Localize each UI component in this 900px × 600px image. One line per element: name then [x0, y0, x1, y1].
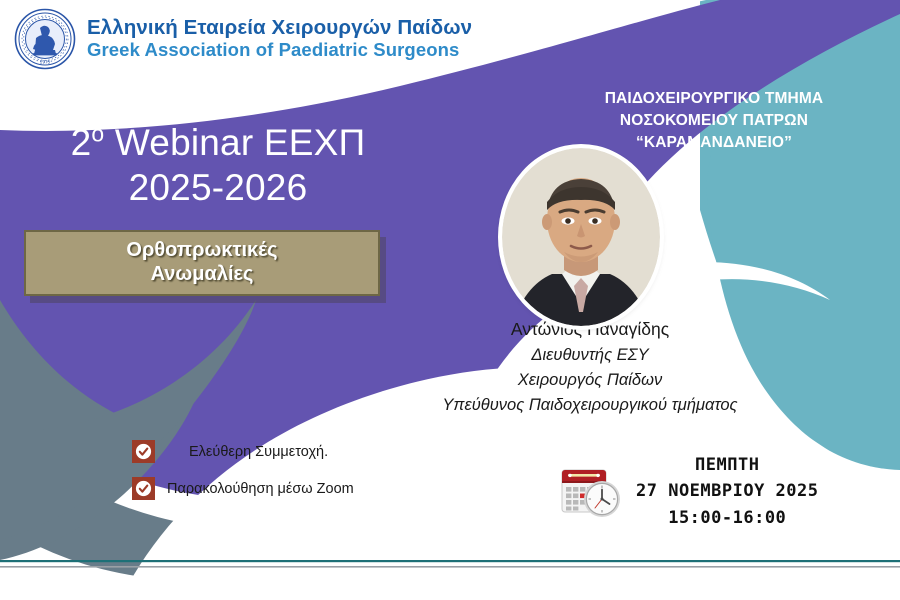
department-line1: ΠΑΙΔΟΧΕΙΡΟΥΡΓΙΚΟ ΤΜΗΜΑ — [554, 88, 874, 110]
header-text: Ελληνική Εταιρεία Χειρουργών Παίδων Gree… — [87, 17, 472, 61]
event-time: 15:00-16:00 — [636, 505, 819, 531]
association-seal-icon: 1975 — [14, 8, 76, 70]
topic-text: Ορθοπρωκτικές Ανωμαλίες — [126, 239, 277, 286]
speaker-portrait — [502, 148, 660, 326]
checklist-item: Παρακολούθηση μέσω Zoom — [132, 477, 354, 500]
event-day: ΠΕΜΠΤΗ — [636, 452, 819, 478]
bottom-rule-teal — [0, 560, 900, 562]
speaker-role-3: Υπεύθυνος Παιδοχειρουργικού τμήματος — [400, 393, 780, 418]
topic-line1: Ορθοπρωκτικές — [126, 239, 277, 263]
ordinal-suffix: ο — [91, 121, 104, 147]
info-checklist: Ελεύθερη Συμμετοχή. Παρακολούθηση μέσω Z… — [132, 440, 354, 514]
checklist-label: Παρακολούθηση μέσω Zoom — [167, 481, 354, 497]
bottom-rule-gray — [0, 566, 900, 568]
event-date: 27 ΝΟΕΜΒΡΙΟΥ 2025 — [636, 478, 819, 504]
department-line2: ΝΟΣΟΚΟΜΕΙΟΥ ΠΑΤΡΩΝ — [554, 110, 874, 132]
header: 1975 Ελληνική Εταιρεία Χειρουργών Παίδων… — [14, 8, 472, 70]
title-block: 2ο Webinar ΕΕΧΠ 2025-2026 — [22, 122, 414, 210]
webinar-number: 2 — [71, 122, 92, 163]
datetime-block: ΠΕΜΠΤΗ 27 ΝΟΕΜΒΡΙΟΥ 2025 15:00-16:00 — [560, 452, 819, 531]
department-block: ΠΑΙΔΟΧΕΙΡΟΥΡΓΙΚΟ ΤΜΗΜΑ ΝΟΣΟΚΟΜΕΙΟΥ ΠΑΤΡΩ… — [554, 88, 874, 154]
checkbox-checked-icon — [132, 440, 155, 463]
speaker-info: Αντώνιος Παναγίδης Διευθυντής ΕΣΥ Χειρου… — [400, 316, 780, 418]
webinar-season: 2025-2026 — [22, 165, 414, 210]
webinar-title-rest: Webinar ΕΕΧΠ — [104, 122, 365, 163]
org-name-english: Greek Association of Paediatric Surgeons — [87, 40, 472, 61]
calendar-clock-icon — [560, 464, 622, 520]
webinar-title-line1: 2ο Webinar ΕΕΧΠ — [22, 122, 414, 165]
svg-text:1975: 1975 — [40, 60, 51, 65]
topic-line2: Ανωμαλίες — [126, 263, 277, 287]
datetime-text: ΠΕΜΠΤΗ 27 ΝΟΕΜΒΡΙΟΥ 2025 15:00-16:00 — [636, 452, 819, 531]
topic-banner: Ορθοπρωκτικές Ανωμαλίες — [24, 230, 380, 296]
checklist-item: Ελεύθερη Συμμετοχή. — [132, 440, 354, 463]
org-name-greek: Ελληνική Εταιρεία Χειρουργών Παίδων — [87, 17, 472, 40]
checklist-label: Ελεύθερη Συμμετοχή. — [189, 444, 328, 460]
speaker-role-1: Διευθυντής ΕΣΥ — [400, 343, 780, 368]
speaker-role-2: Χειρουργός Παίδων — [400, 368, 780, 393]
checkbox-checked-icon — [132, 477, 155, 500]
webinar-poster: 1975 Ελληνική Εταιρεία Χειρουργών Παίδων… — [0, 0, 900, 600]
